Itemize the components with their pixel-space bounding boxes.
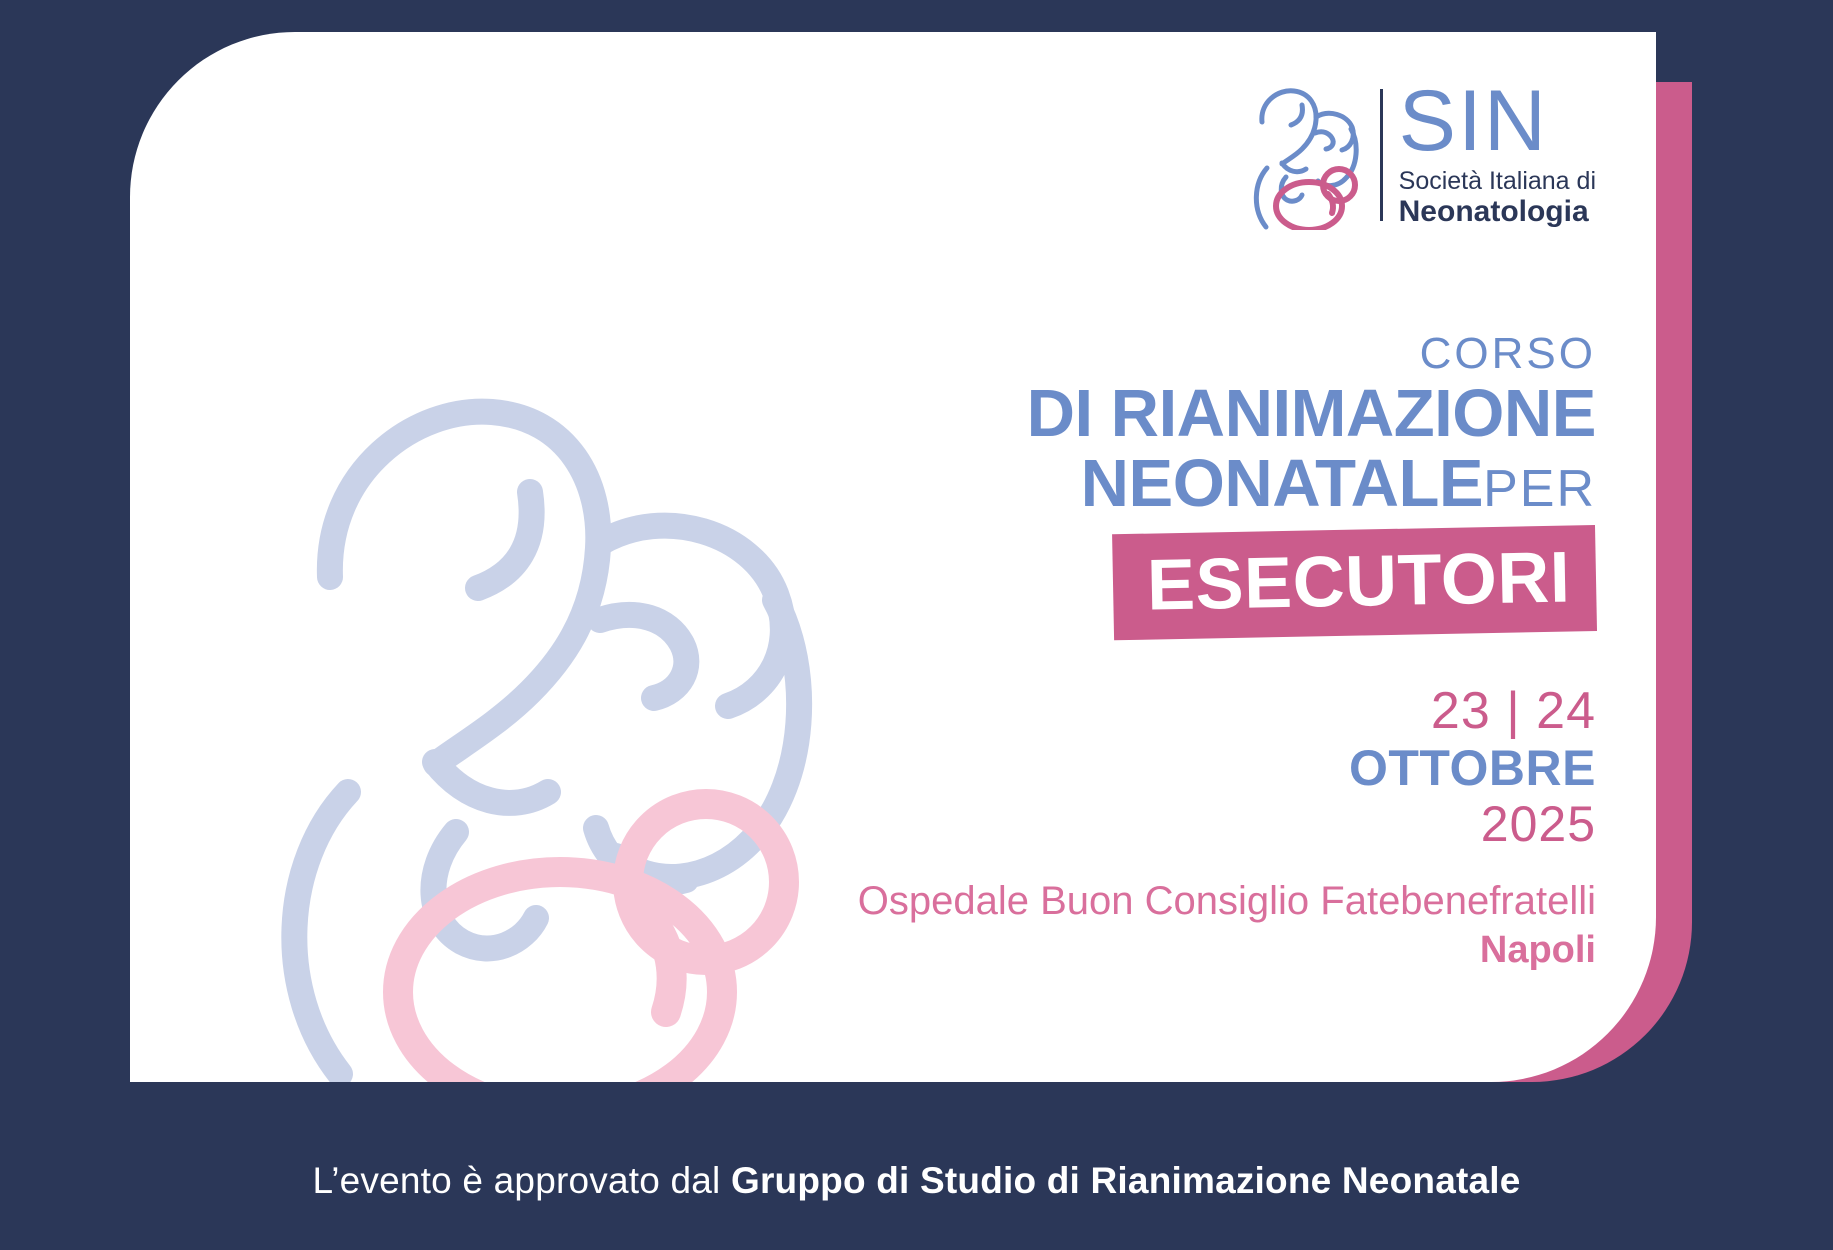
- sin-acronym: SIN: [1399, 82, 1596, 161]
- event-date-month: OTTOBRE: [796, 740, 1596, 796]
- title-line-3-suffix: PER: [1483, 460, 1596, 518]
- title-line-3: NEONATALEPER: [596, 450, 1596, 518]
- event-date-year: 2025: [796, 796, 1596, 852]
- sin-subtitle-line2: Neonatologia: [1399, 195, 1596, 229]
- course-title-block: CORSO DI RIANIMAZIONE NEONATALEPER ESECU…: [596, 332, 1596, 631]
- approval-note-strong: Gruppo di Studio di Rianimazione Neonata…: [731, 1160, 1521, 1201]
- poster-card: SIN Società Italiana di Neonatologia COR…: [130, 32, 1656, 1082]
- logo-divider: [1380, 89, 1383, 221]
- title-highlight-badge: ESECUTORI: [1112, 525, 1597, 640]
- title-kicker: CORSO: [596, 332, 1596, 376]
- sin-logo: SIN Società Italiana di Neonatologia: [1246, 80, 1596, 230]
- event-venue-place: Ospedale Buon Consiglio Fatebenefratelli: [596, 877, 1596, 927]
- event-venue-block: Ospedale Buon Consiglio Fatebenefratelli…: [596, 877, 1596, 974]
- title-line-3-main: NEONATALE: [1081, 446, 1483, 521]
- approval-note: L’evento è approvato dal Gruppo di Studi…: [0, 1160, 1833, 1202]
- event-date-block: 23 | 24 OTTOBRE 2025: [796, 682, 1596, 852]
- approval-note-prefix: L’evento è approvato dal: [312, 1160, 731, 1201]
- poster-stage: SIN Società Italiana di Neonatologia COR…: [0, 0, 1833, 1250]
- sin-logo-text: SIN Società Italiana di Neonatologia: [1399, 82, 1596, 229]
- sin-subtitle-line1: Società Italiana di: [1399, 167, 1596, 195]
- title-line-2: DI RIANIMAZIONE: [596, 380, 1596, 448]
- event-date-days: 23 | 24: [796, 682, 1596, 740]
- event-venue-city: Napoli: [596, 927, 1596, 974]
- title-highlight-wrap: ESECUTORI: [596, 525, 1596, 631]
- sin-mother-and-child-icon: [1246, 80, 1364, 230]
